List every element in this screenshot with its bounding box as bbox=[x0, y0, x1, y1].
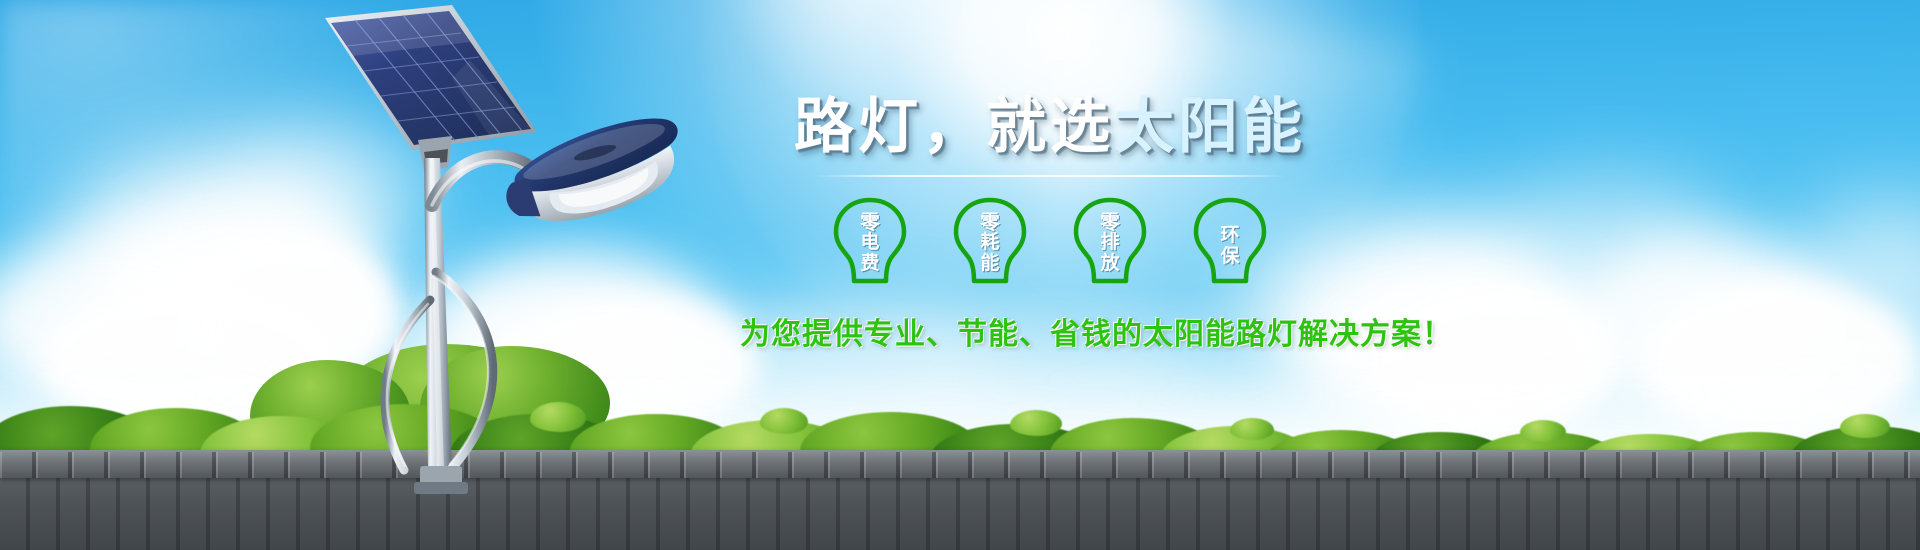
badge-text: 零 耗 能 bbox=[948, 195, 1032, 287]
badge-line-2: 费 bbox=[860, 253, 879, 274]
badge-line-1: 耗 bbox=[980, 232, 999, 253]
badge-zero-char: 零 bbox=[1100, 212, 1120, 232]
badge-zero-electricity-fee: 零 电 费 bbox=[828, 195, 912, 287]
badge-text: 零 电 费 bbox=[828, 195, 912, 287]
badge-zero-emission: 零 排 放 bbox=[1068, 195, 1152, 287]
feature-badge-list: 零 电 费 零 耗 能 零 bbox=[740, 195, 1360, 287]
page-title: 路灯，就选太阳能 bbox=[740, 96, 1360, 159]
badge-line-2: 保 bbox=[1220, 246, 1239, 267]
badge-line-1: 电 bbox=[860, 232, 879, 253]
badge-zero-char: 零 bbox=[860, 212, 880, 232]
solar-photovoltaic-panel bbox=[325, 5, 537, 170]
lamp-base bbox=[414, 466, 468, 494]
title-divider bbox=[815, 175, 1285, 177]
badge-zero-char: 零 bbox=[980, 212, 1000, 232]
solar-street-lamp-banner: 路灯，就选太阳能 零 电 费 零 耗 能 bbox=[0, 0, 1920, 550]
badge-text: 零 排 放 bbox=[1068, 195, 1152, 287]
badge-text: 环 保 bbox=[1188, 195, 1272, 287]
badge-environmental-protection: 环 保 bbox=[1188, 195, 1272, 287]
badge-line-2: 放 bbox=[1100, 253, 1119, 274]
headline-part-1: 路灯，就选 bbox=[794, 92, 1114, 162]
badge-line-1: 排 bbox=[1100, 232, 1119, 253]
headline-part-2: 太阳能 bbox=[1114, 92, 1306, 162]
badge-zero-energy-consumption: 零 耗 能 bbox=[948, 195, 1032, 287]
badge-line-2: 能 bbox=[980, 253, 999, 274]
marketing-copy-block: 路灯，就选太阳能 零 电 费 零 耗 能 bbox=[740, 96, 1360, 353]
marketing-tagline: 为您提供专业、节能、省钱的太阳能路灯解决方案！ bbox=[740, 309, 1360, 353]
badge-line-1: 环 bbox=[1220, 225, 1239, 246]
